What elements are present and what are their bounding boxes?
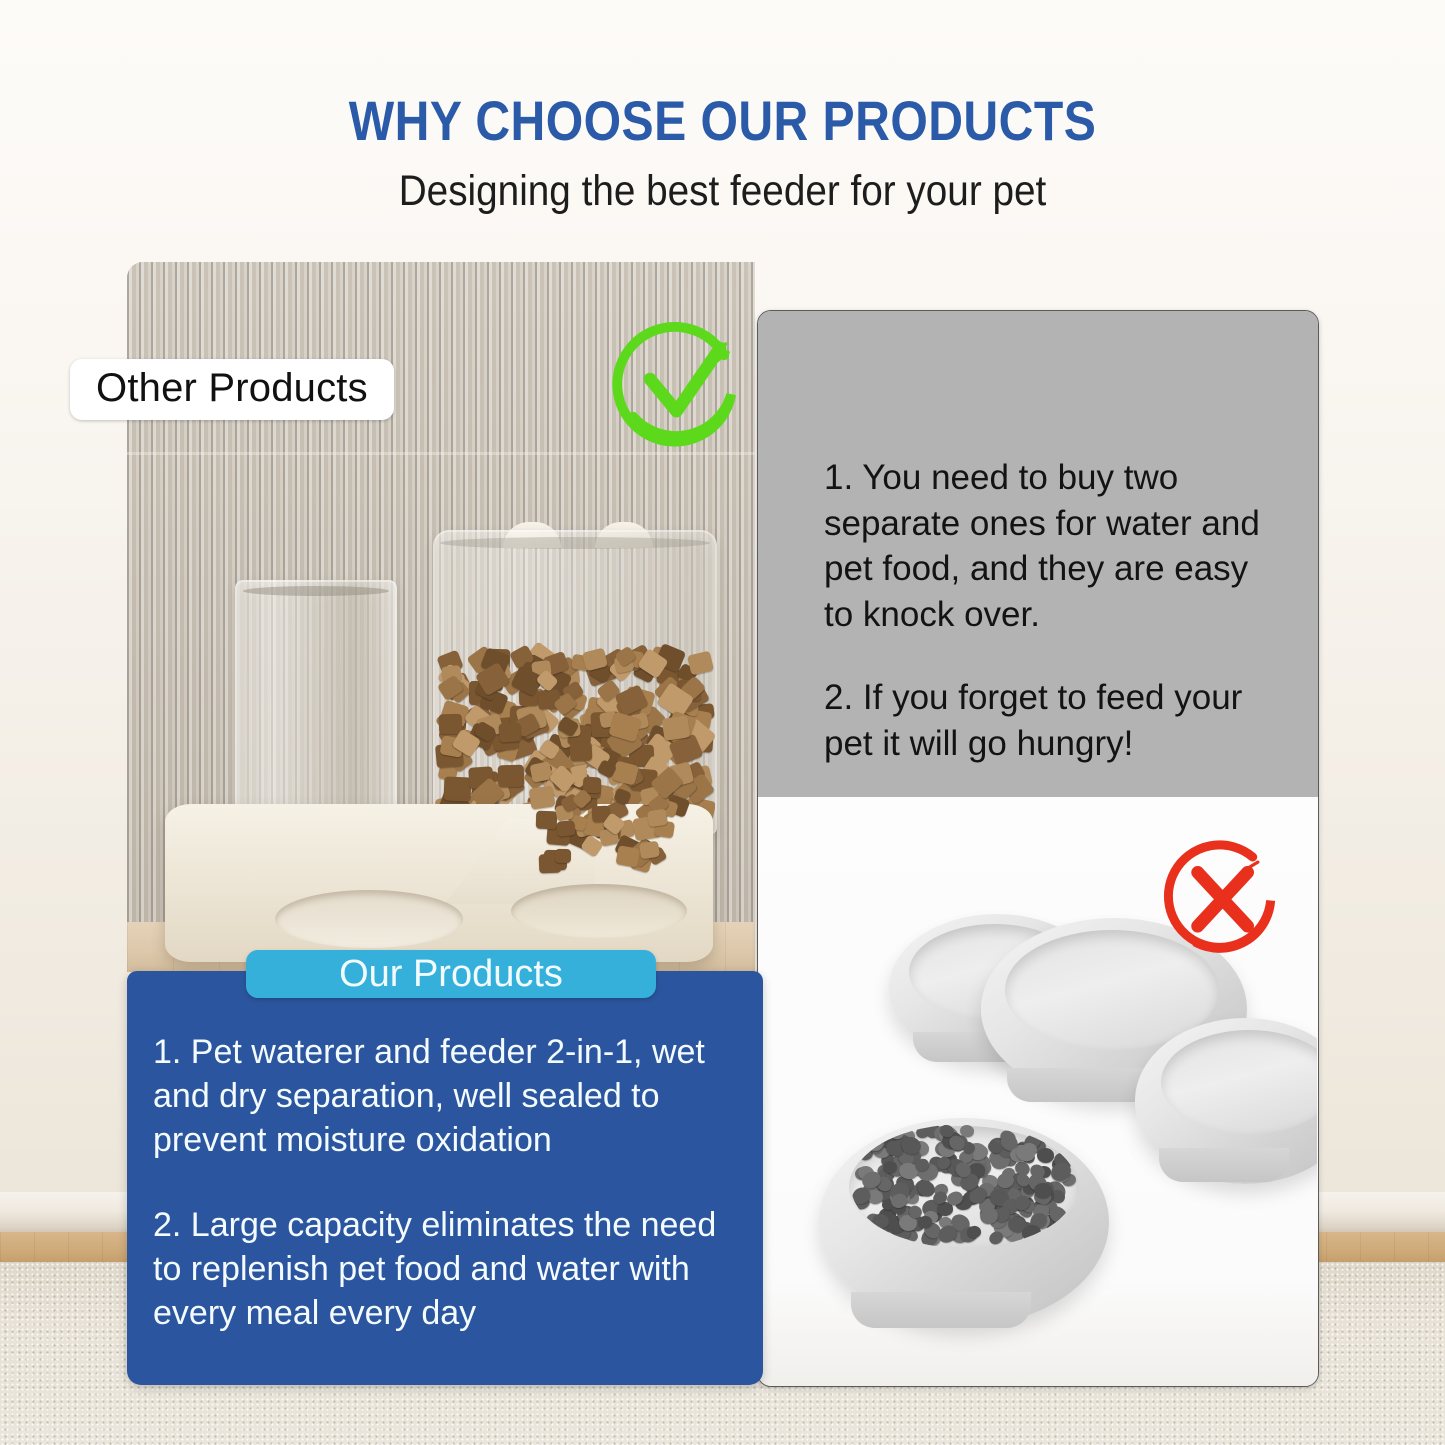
page-subtitle: Designing the best feeder for your pet bbox=[72, 167, 1373, 216]
kibble-pile bbox=[851, 1124, 1077, 1248]
other-products-badge-label: Other Products bbox=[96, 366, 368, 410]
our-products-points: 1. Pet waterer and feeder 2-in-1, wet an… bbox=[153, 1030, 753, 1335]
red-x-circle-icon bbox=[1158, 834, 1286, 962]
infographic-canvas: WHY CHOOSE OUR PRODUCTS Designing the be… bbox=[0, 0, 1445, 1445]
header: WHY CHOOSE OUR PRODUCTS Designing the be… bbox=[0, 88, 1445, 216]
page-title: WHY CHOOSE OUR PRODUCTS bbox=[101, 88, 1344, 153]
pet-feeder-device bbox=[155, 462, 727, 962]
our-products-point-1: 1. Pet waterer and feeder 2-in-1, wet an… bbox=[153, 1030, 753, 1163]
our-products-badge-label: Our Products bbox=[339, 953, 563, 996]
green-check-circle-icon bbox=[608, 316, 748, 456]
other-products-points: 1. You need to buy two separate ones for… bbox=[824, 455, 1284, 766]
other-products-point-2: 2. If you forget to feed your pet it wil… bbox=[824, 675, 1284, 766]
our-products-point-2: 2. Large capacity eliminates the need to… bbox=[153, 1203, 753, 1336]
water-bottle bbox=[235, 580, 397, 822]
other-products-badge: Other Products bbox=[70, 359, 394, 420]
bowl-right-foot bbox=[1159, 1148, 1289, 1182]
other-products-point-1: 1. You need to buy two separate ones for… bbox=[824, 455, 1284, 637]
our-products-badge: Our Products bbox=[246, 950, 656, 998]
water-bowl bbox=[275, 890, 463, 948]
food-bowl bbox=[511, 884, 687, 938]
kibble-spill bbox=[529, 756, 697, 876]
bowl-front-foot bbox=[851, 1292, 1031, 1328]
